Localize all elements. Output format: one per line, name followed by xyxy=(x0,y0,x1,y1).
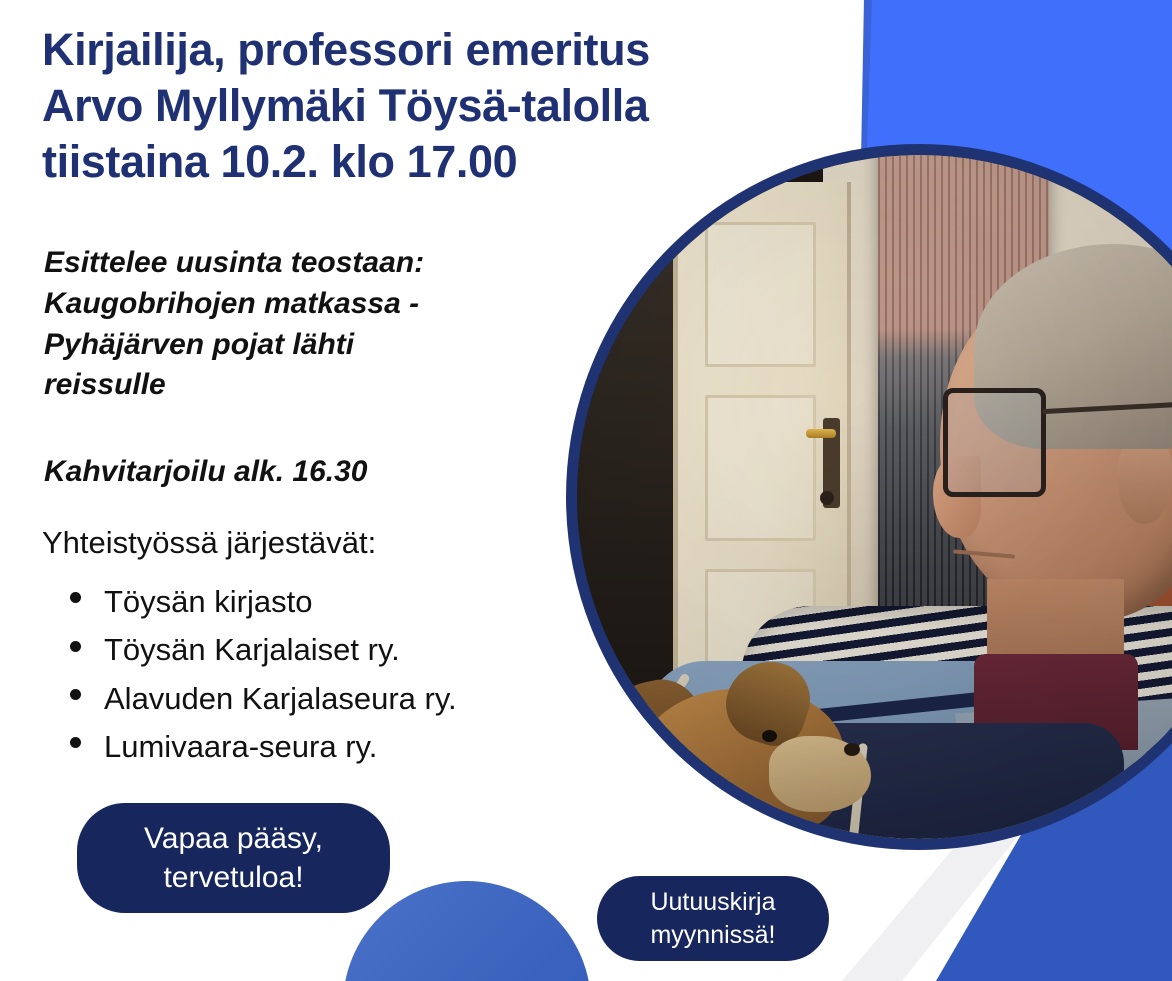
bullet-icon xyxy=(70,737,81,748)
new-book-badge-text: Uutuuskirja myynnissä! xyxy=(650,886,775,951)
free-entry-badge: Vapaa pääsy, tervetuloa! xyxy=(77,803,390,913)
subtitle-line-1: Esittelee uusinta teostaan: xyxy=(44,246,424,279)
poster-canvas: Kirjailija, professori emeritus Arvo Myl… xyxy=(0,0,1172,981)
collaborator-label: Töysän Karjalaiset ry. xyxy=(104,632,400,667)
bullet-icon xyxy=(70,689,81,700)
title-line-1: Kirjailija, professori emeritus xyxy=(42,24,650,75)
collaborator-label: Lumivaara-seura ry. xyxy=(104,729,377,764)
badge-line-1: Vapaa pääsy, xyxy=(144,822,323,855)
coffee-note: Kahvitarjoilu alk. 16.30 xyxy=(44,455,514,489)
list-item: Töysän kirjasto xyxy=(62,578,602,626)
photo-inner xyxy=(577,155,1172,839)
page-title: Kirjailija, professori emeritus Arvo Myl… xyxy=(42,22,782,189)
photo-tone-overlay xyxy=(577,155,1172,839)
collaborator-list: Töysän kirjasto Töysän Karjalaiset ry. A… xyxy=(62,578,602,771)
list-item: Lumivaara-seura ry. xyxy=(62,723,602,771)
title-line-3: tiistaina 10.2. klo 17.00 xyxy=(42,136,517,187)
bullet-icon xyxy=(70,592,81,603)
list-item: Töysän Karjalaiset ry. xyxy=(62,626,602,674)
collaborator-label: Alavuden Karjalaseura ry. xyxy=(104,681,457,716)
bottom-center-blue-circle xyxy=(343,881,591,981)
collaborator-label: Töysän kirjasto xyxy=(104,584,312,619)
book-description: Esittelee uusinta teostaan: Kaugobrihoje… xyxy=(44,243,514,406)
subtitle-line-3: Pyhäjärven pojat lähti xyxy=(44,328,354,361)
portrait-photo xyxy=(566,144,1172,850)
title-line-2: Arvo Myllymäki Töysä-talolla xyxy=(42,80,649,131)
free-entry-badge-text: Vapaa pääsy, tervetuloa! xyxy=(144,819,323,897)
badge-line-1: Uutuuskirja xyxy=(650,888,775,916)
badge-line-2: myynnissä! xyxy=(650,921,775,949)
subtitle-line-2: Kaugobrihojen matkassa - xyxy=(44,287,419,320)
subtitle-line-4: reissulle xyxy=(44,368,166,401)
new-book-badge: Uutuuskirja myynnissä! xyxy=(597,876,829,961)
bullet-icon xyxy=(70,641,81,652)
badge-line-2: tervetuloa! xyxy=(163,861,303,894)
photo-scene xyxy=(577,155,1172,839)
collaboration-heading: Yhteistyössä järjestävät: xyxy=(42,525,562,561)
list-item: Alavuden Karjalaseura ry. xyxy=(62,675,602,723)
